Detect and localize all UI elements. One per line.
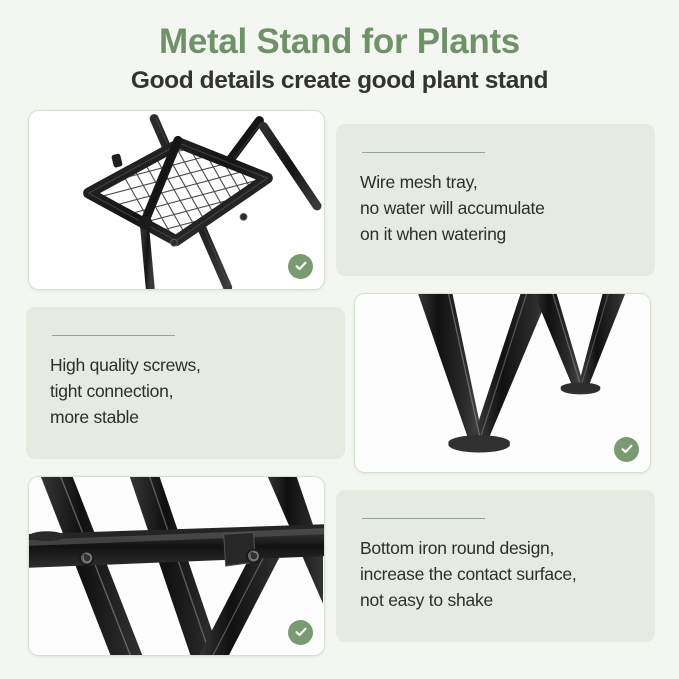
header: Metal Stand for Plants Good details crea…: [0, 0, 679, 96]
feature-description: High quality screws, tight connection, m…: [50, 353, 321, 430]
page-title: Metal Stand for Plants: [0, 22, 679, 62]
check-icon: [294, 259, 308, 273]
feature-photo-bottom-iron-round-design: [28, 476, 325, 656]
panel-divider: [362, 152, 485, 153]
feature-text-panel-bottom-iron-round-design: Bottom iron round design, increase the c…: [336, 490, 655, 642]
check-icon: [620, 442, 634, 456]
check-badge: [288, 620, 313, 645]
feature-rows: Wire mesh tray, no water will accumulate…: [0, 110, 679, 656]
feature-description: Bottom iron round design, increase the c…: [360, 536, 631, 613]
feature-text-panel-wire-mesh-tray: Wire mesh tray, no water will accumulate…: [336, 124, 655, 276]
feature-text-panel-high-quality-screws: High quality screws, tight connection, m…: [26, 307, 345, 459]
v-legs-illustration: [355, 294, 650, 472]
page-subtitle: Good details create good plant stand: [0, 66, 679, 95]
panel-divider: [52, 335, 175, 336]
feature-row-bottom-iron-round-design: Bottom iron round design, increase the c…: [0, 476, 679, 656]
wire-mesh-tray-illustration: [29, 111, 324, 289]
crossed-bars-illustration: [29, 477, 324, 655]
feature-description: Wire mesh tray, no water will accumulate…: [360, 170, 631, 247]
feature-row-high-quality-screws: High quality screws, tight connection, m…: [0, 293, 679, 473]
check-badge: [288, 254, 313, 279]
check-icon: [294, 625, 308, 639]
feature-photo-high-quality-screws: [354, 293, 651, 473]
feature-photo-wire-mesh-tray: [28, 110, 325, 290]
panel-divider: [362, 518, 485, 519]
check-badge: [614, 437, 639, 462]
feature-row-wire-mesh-tray: Wire mesh tray, no water will accumulate…: [0, 110, 679, 290]
